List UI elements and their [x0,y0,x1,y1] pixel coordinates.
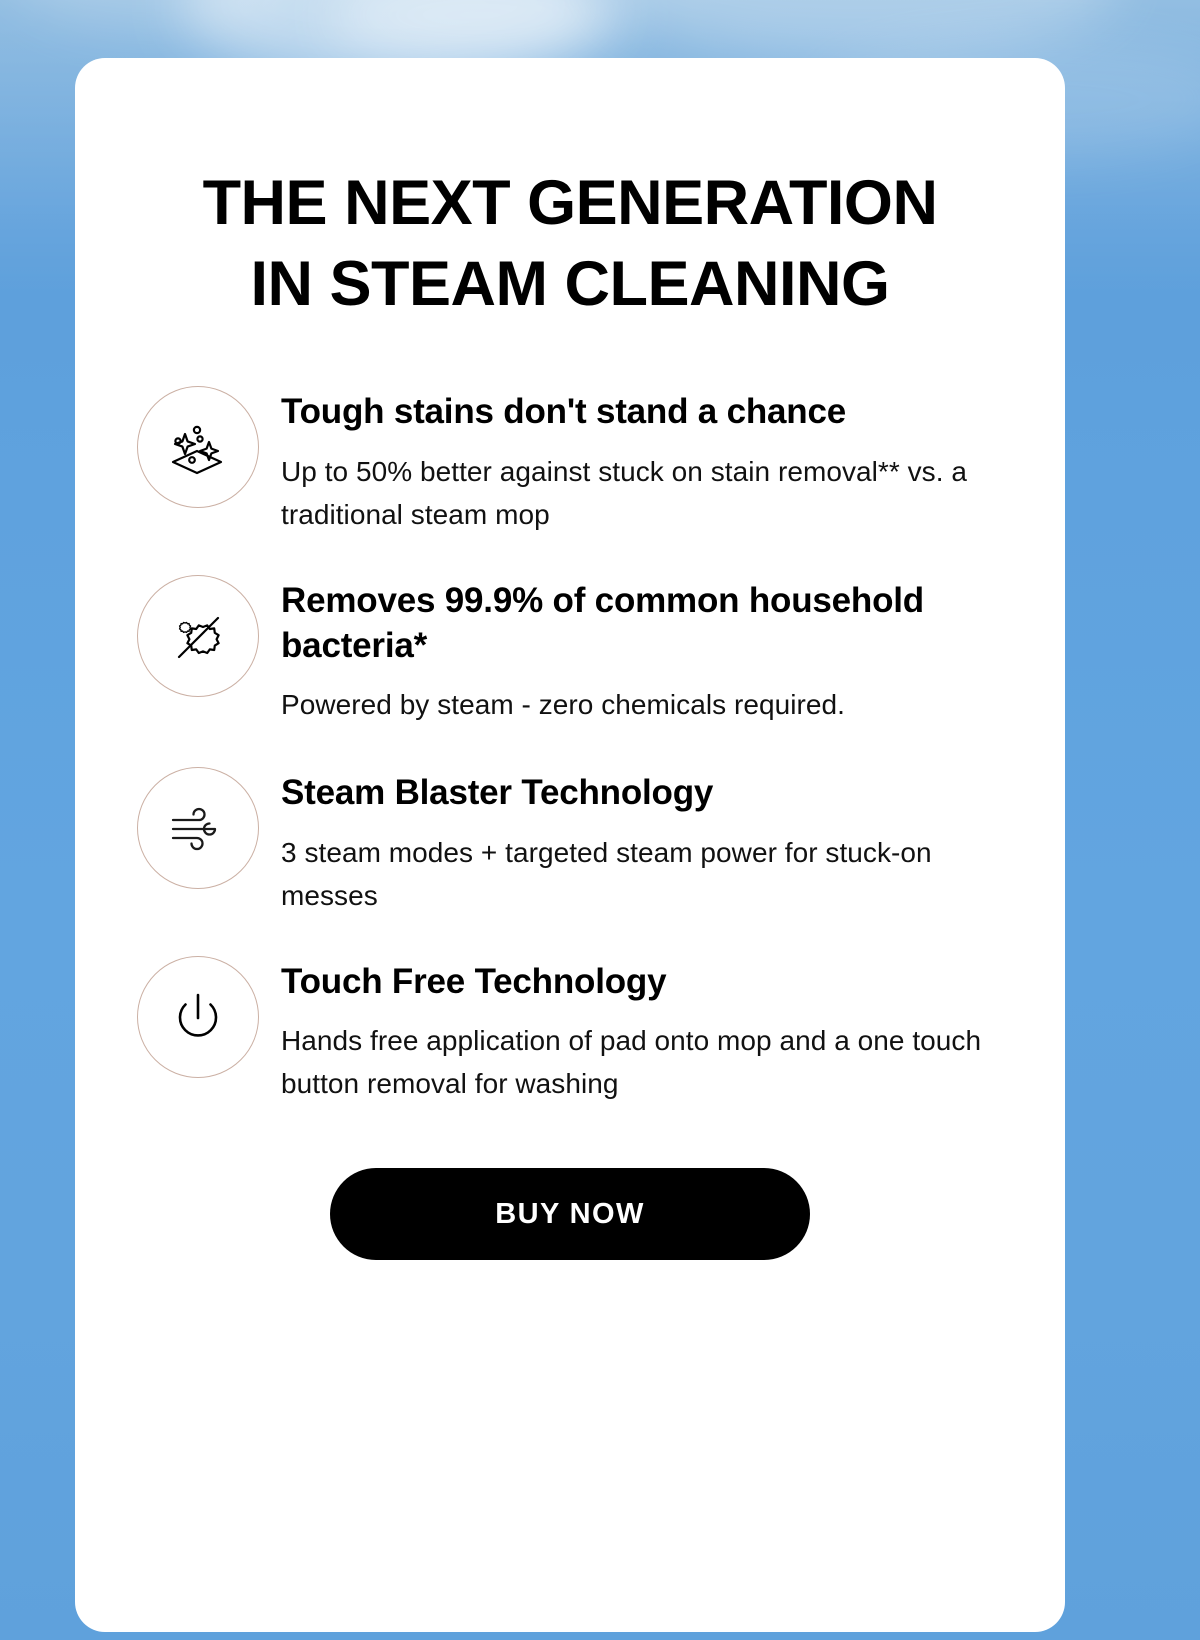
feature-item-touch-free: Touch Free Technology Hands free applica… [137,954,1003,1106]
promo-card: THE NEXT GENERATION IN STEAM CLEANING [75,58,1065,1632]
no-bacteria-icon [137,575,259,697]
cta-container: BUY NOW [137,1168,1003,1260]
feature-description: Up to 50% better against stuck on stain … [281,451,1003,537]
feature-list: Tough stains don't stand a chance Up to … [137,384,1003,1106]
feature-title: Touch Free Technology [281,960,1003,1005]
sparkling-floor-icon [137,386,259,508]
buy-now-button[interactable]: BUY NOW [330,1168,810,1260]
feature-item-steam-blaster: Steam Blaster Technology 3 steam modes +… [137,765,1003,917]
feature-item-removes-bacteria: Removes 99.9% of common household bacter… [137,573,1003,727]
power-button-icon [137,956,259,1078]
feature-text-block: Steam Blaster Technology 3 steam modes +… [281,765,1003,917]
feature-text-block: Removes 99.9% of common household bacter… [281,573,1003,727]
feature-description: Powered by steam - zero chemicals requir… [281,684,1003,727]
feature-item-tough-stains: Tough stains don't stand a chance Up to … [137,384,1003,536]
page-title: THE NEXT GENERATION IN STEAM CLEANING [137,163,1003,324]
feature-title: Steam Blaster Technology [281,771,1003,816]
feature-title: Tough stains don't stand a chance [281,390,1003,435]
feature-description: Hands free application of pad onto mop a… [281,1020,1003,1106]
feature-text-block: Touch Free Technology Hands free applica… [281,954,1003,1106]
feature-text-block: Tough stains don't stand a chance Up to … [281,384,1003,536]
cloud-shape [0,0,300,30]
cloud-shape [600,0,1120,60]
steam-wind-icon [137,767,259,889]
feature-title: Removes 99.9% of common household bacter… [281,579,1003,669]
cloud-shape [330,0,630,60]
feature-description: 3 steam modes + targeted steam power for… [281,832,1003,918]
